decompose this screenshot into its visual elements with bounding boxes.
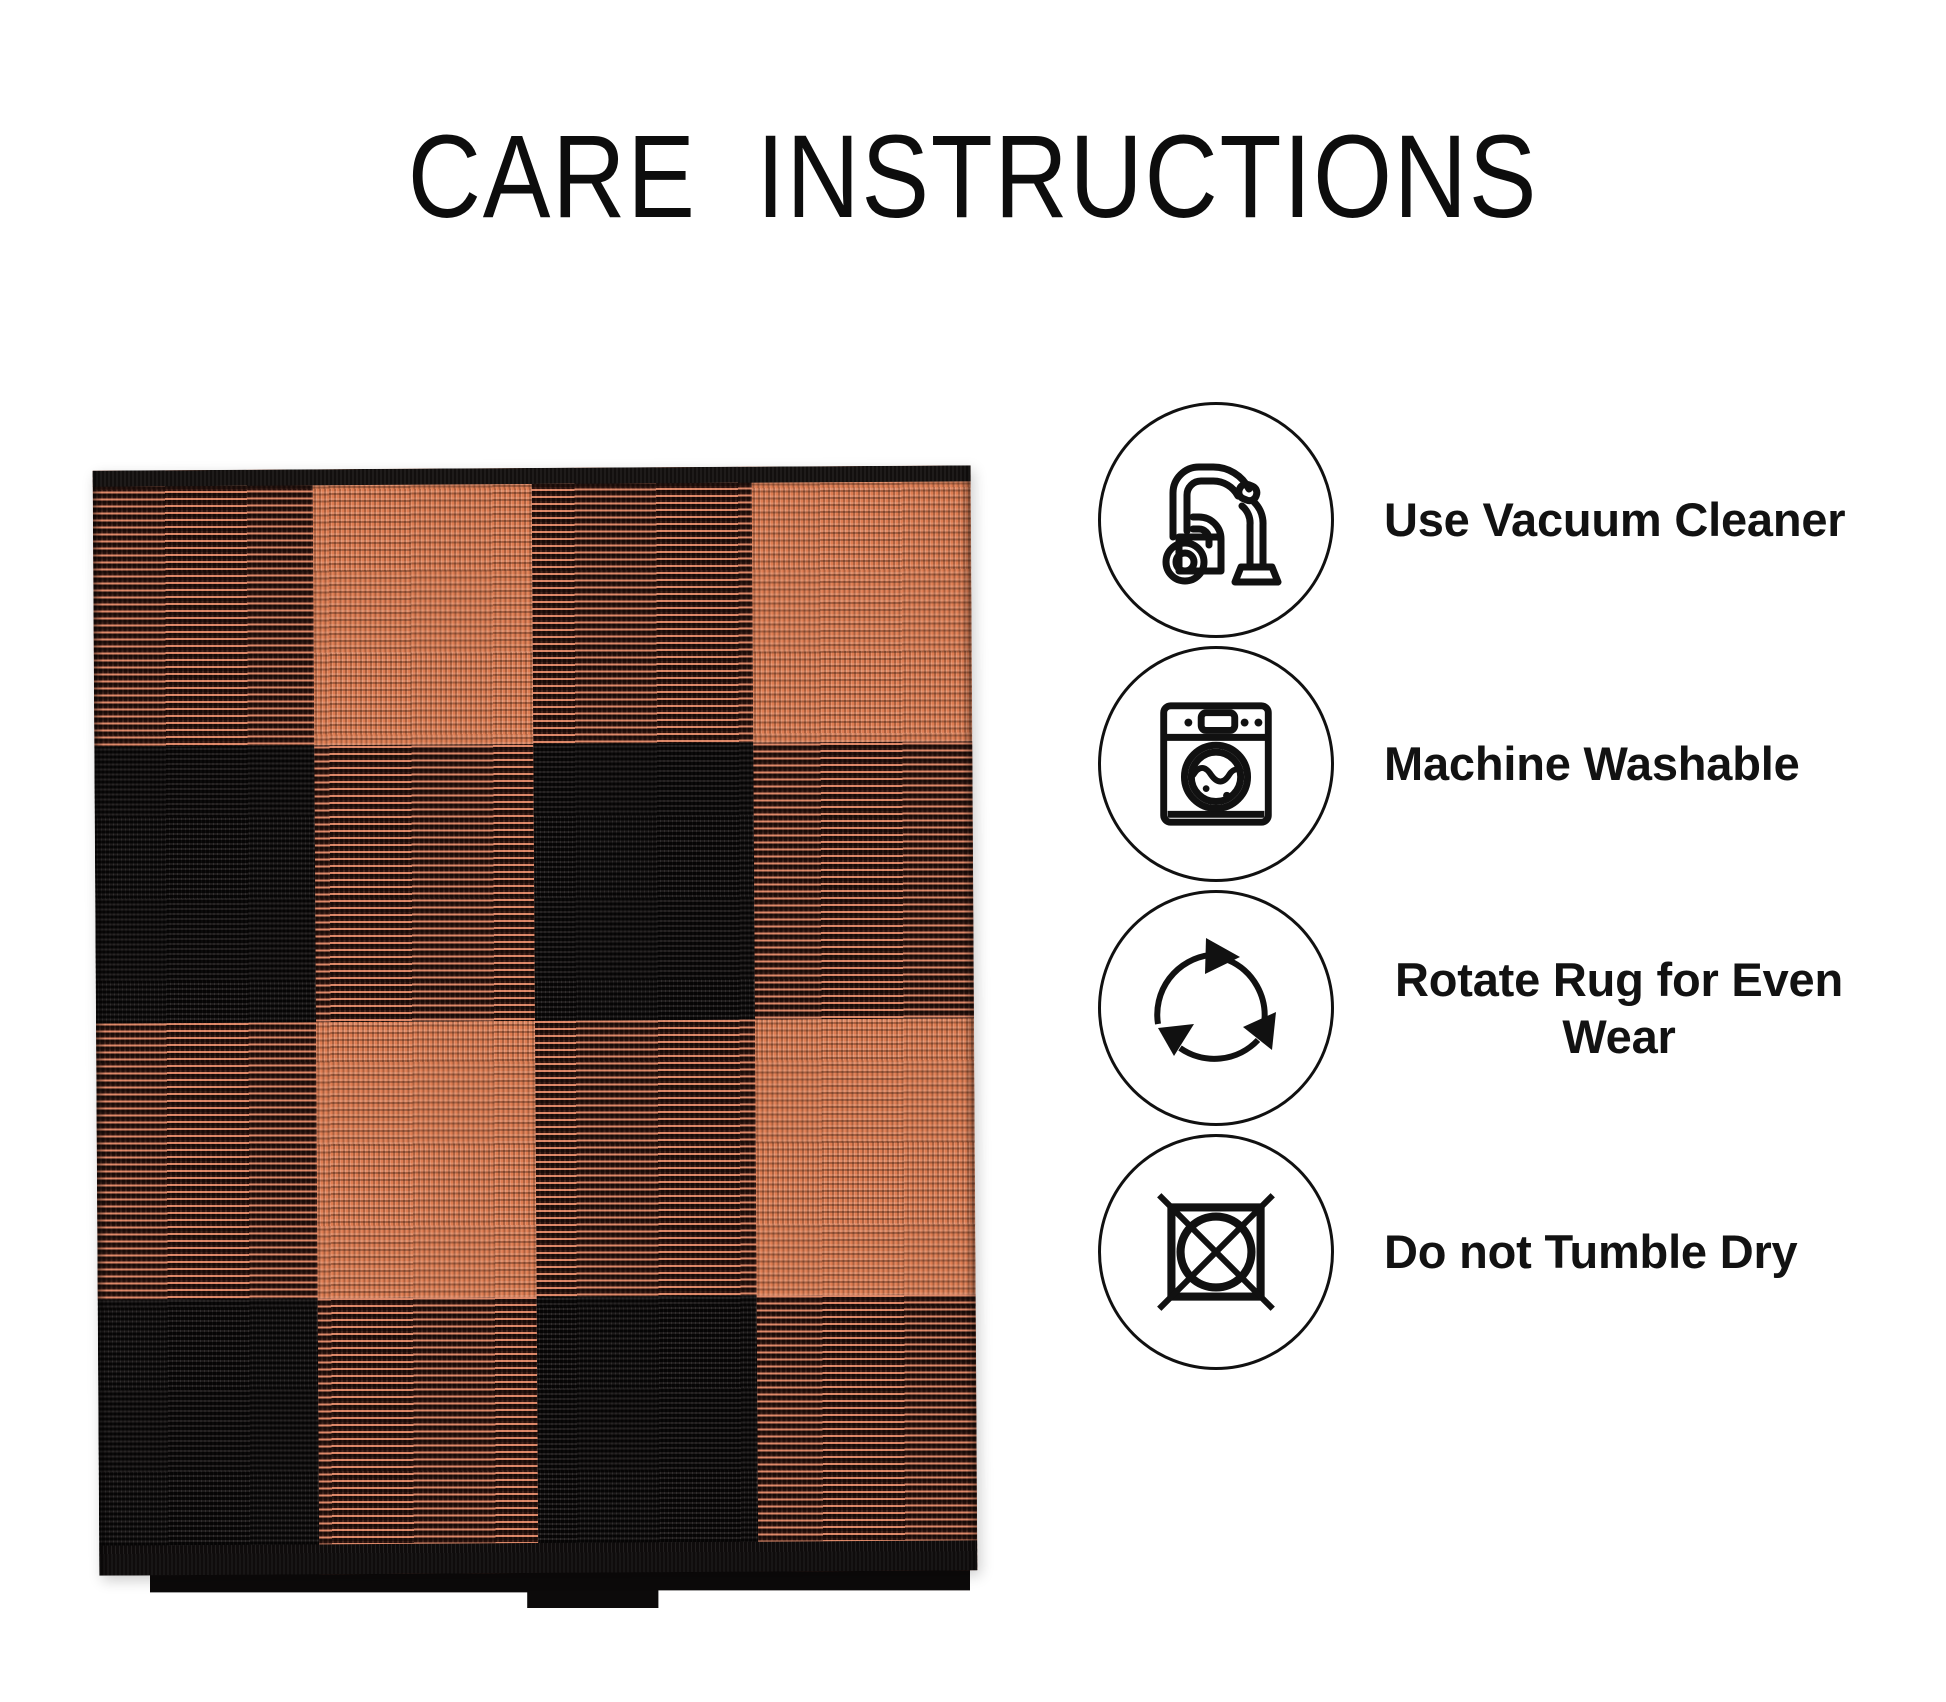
care-item-label: Rotate Rug for Even Wear: [1384, 951, 1854, 1066]
rug-plaid-grid: [93, 465, 978, 1575]
rotate-arrows-icon: [1098, 890, 1334, 1126]
rug-cell-1-2: [533, 743, 754, 1021]
care-instruction-list: Use Vacuum Cleaner: [1098, 398, 1918, 1374]
rug-cell-3-2: [537, 1295, 758, 1573]
rug-cell-2-2: [535, 1019, 756, 1297]
rug-cell-2-1: [316, 1021, 537, 1299]
rug-bottom-selvedge: [99, 1540, 977, 1575]
care-item-no-tumble-dry: Do not Tumble Dry: [1098, 1130, 1918, 1374]
rug-cell-1-3: [753, 742, 974, 1020]
rug-product-image: [72, 462, 1002, 1622]
rug-cell-0-2: [532, 467, 753, 745]
rug-cell-0-1: [312, 468, 533, 746]
rug-folded-stack: [93, 465, 978, 1575]
washing-machine-icon: [1098, 646, 1334, 882]
rug-cell-1-0: [94, 746, 315, 1024]
rug-cell-3-1: [317, 1297, 538, 1575]
care-item-vacuum: Use Vacuum Cleaner: [1098, 398, 1918, 642]
rug-cell-0-3: [751, 465, 972, 743]
vacuum-cleaner-icon: [1098, 402, 1334, 638]
rug-cell-3-0: [98, 1298, 319, 1576]
rug-cell-2-0: [96, 1022, 317, 1300]
page-title: CARE INSTRUCTIONS: [136, 118, 1810, 236]
care-item-rotate: Rotate Rug for Even Wear: [1098, 886, 1918, 1130]
rug-cell-0-0: [93, 469, 314, 747]
care-item-label: Machine Washable: [1384, 735, 1800, 792]
care-item-machine-washable: Machine Washable: [1098, 642, 1918, 886]
rug-cell-3-3: [756, 1294, 977, 1572]
rug-cell-1-1: [314, 744, 535, 1022]
care-item-label: Use Vacuum Cleaner: [1384, 491, 1845, 548]
rug-cell-2-3: [754, 1018, 975, 1296]
no-tumble-dry-icon: [1098, 1134, 1334, 1370]
care-item-label: Do not Tumble Dry: [1384, 1223, 1798, 1280]
